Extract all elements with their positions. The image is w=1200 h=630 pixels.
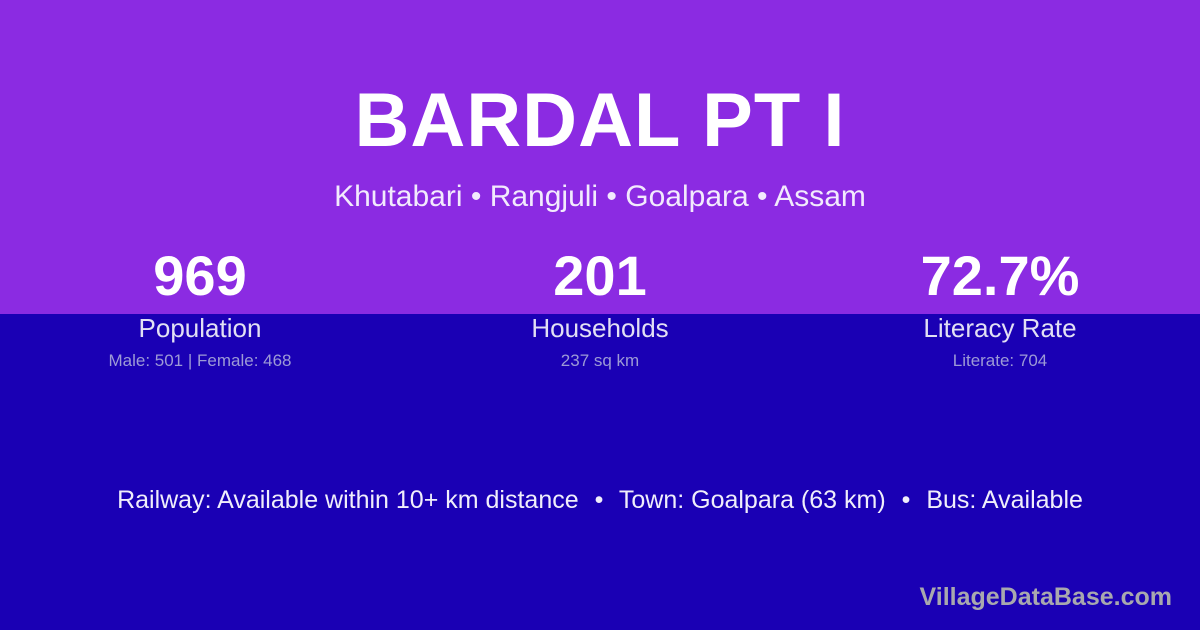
stat-sublabel: Male: 501 | Female: 468 [0, 351, 400, 371]
stat-sublabel: Literate: 704 [800, 351, 1200, 371]
stat-sublabel: 237 sq km [400, 351, 800, 371]
stat-value: 969 [0, 248, 400, 304]
breadcrumb: Khutabari • Rangjuli • Goalpara • Assam [0, 159, 1200, 212]
stat-value: 201 [400, 248, 800, 304]
amenities-row: Railway: Available within 10+ km distanc… [0, 484, 1200, 516]
amenity-town: Town: Goalpara (63 km) [619, 486, 886, 514]
stat-label: Literacy Rate [800, 314, 1200, 342]
amenity-separator: • [586, 486, 613, 514]
site-brand: VillageDataBase.com [920, 582, 1172, 612]
amenity-railway: Railway: Available within 10+ km distanc… [117, 486, 579, 514]
stats-row: 969 Population Male: 501 | Female: 468 2… [0, 248, 1200, 371]
page-title: BARDAL PT I [0, 0, 1200, 159]
stat-households: 201 Households 237 sq km [400, 248, 800, 371]
stat-label: Population [0, 314, 400, 342]
amenity-bus: Bus: Available [926, 486, 1083, 514]
stat-value: 72.7% [800, 248, 1200, 304]
village-info-card: BARDAL PT I Khutabari • Rangjuli • Goalp… [0, 0, 1200, 630]
stat-label: Households [400, 314, 800, 342]
stat-population: 969 Population Male: 501 | Female: 468 [0, 248, 400, 371]
card-header: BARDAL PT I Khutabari • Rangjuli • Goalp… [0, 0, 1200, 212]
stat-literacy-rate: 72.7% Literacy Rate Literate: 704 [800, 248, 1200, 371]
amenity-separator: • [893, 486, 920, 514]
